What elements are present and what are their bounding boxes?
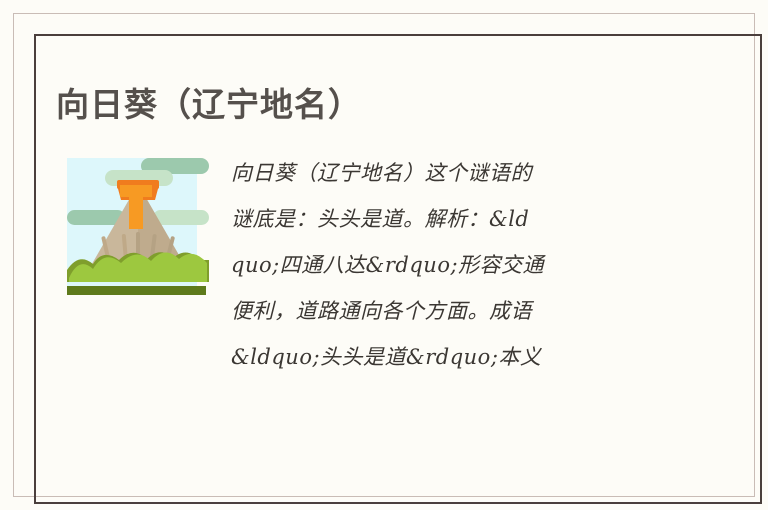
page-title: 向日葵（辽宁地名）: [56, 83, 362, 127]
figure-volcano: [67, 152, 209, 299]
prose-line: &ldquo;头头是道&rdquo;本义: [231, 334, 651, 380]
riddle-explanation-text: 向日葵（辽宁地名）这个谜语的 谜底是：头头是道。解析：&ld quo;四通八达&…: [231, 150, 651, 380]
prose-line: 向日葵（辽宁地名）这个谜语的: [231, 150, 651, 196]
page-root: 向日葵（辽宁地名）: [0, 0, 768, 510]
volcano-icon: [67, 152, 209, 299]
prose-line: 谜底是：头头是道。解析：&ld: [231, 196, 651, 242]
prose-line: quo;四通八达&rdquo;形容交通: [231, 242, 651, 288]
prose-line: 便利，道路通向各个方面。成语: [231, 288, 651, 334]
